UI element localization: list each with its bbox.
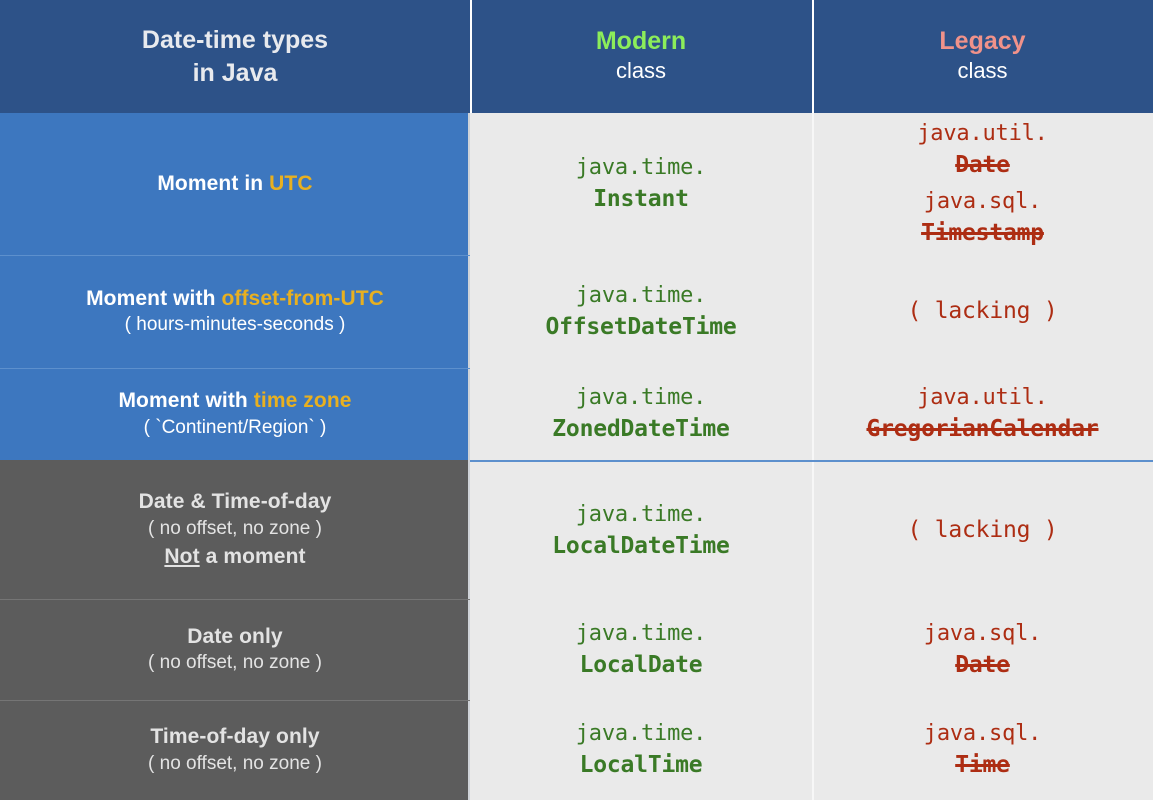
header-modern-sub: class [616,56,666,86]
row-description-sub: ( no offset, no zone ) [148,516,322,543]
header-legacy-sub: class [957,56,1007,86]
code-package: java.time. [576,152,706,183]
code-package: java.time. [576,718,706,749]
header-title-line1: Date-time types [142,24,328,57]
row-modern-moment-offset: java.time. OffsetDateTime [470,255,812,368]
code-package: java.sql. [924,718,1041,749]
table-header-legacy: Legacy class [812,0,1153,113]
code-class: ZonedDateTime [552,413,729,446]
code-entry: java.time. LocalDate [576,618,706,682]
code-class: Timestamp [921,217,1044,250]
row-legacy-date-and-time: ( lacking ) [812,460,1153,599]
code-entry: java.time. LocalDateTime [552,499,729,563]
row-legacy-time-only: java.sql. Time [812,700,1153,800]
row-legacy-moment-offset: ( lacking ) [812,255,1153,368]
code-entry: java.util. GregorianCalendar [866,382,1098,446]
header-title-line2: in Java [193,57,278,90]
code-class: Date [917,149,1047,182]
row-description-main-accent: UTC [269,172,312,195]
code-package: java.util. [917,118,1047,149]
row-description-note-underlined: Not [164,545,199,568]
row-legacy-date-only: java.sql. Date [812,599,1153,700]
row-description-sub: ( `Continent/Region` ) [144,415,327,442]
code-class: Date [924,649,1041,682]
code-package: java.time. [552,382,729,413]
code-entry: java.sql. Date [924,618,1041,682]
row-description-main-plain: Moment with [118,389,253,412]
row-description-note: Not a moment [164,543,305,571]
row-description-main-plain: Moment in [157,172,269,195]
code-entry: java.time. ZonedDateTime [552,382,729,446]
code-entry: java.time. Instant [576,152,706,216]
row-description-note-rest: a moment [200,545,306,568]
table-header-description: Date-time types in Java [0,0,470,113]
code-entry: java.util. Date [917,118,1047,182]
row-description-sub: ( hours-minutes-seconds ) [125,312,346,339]
row-description-date-only: Date only ( no offset, no zone ) [0,599,470,700]
row-modern-date-only: java.time. LocalDate [470,599,812,700]
code-entry: java.time. OffsetDateTime [545,280,736,344]
row-description-moment-zone: Moment with time zone ( `Continent/Regio… [0,368,470,460]
code-package: java.sql. [921,186,1044,217]
row-modern-moment-zone: java.time. ZonedDateTime [470,368,812,460]
code-package: java.time. [576,618,706,649]
row-description-sub: ( no offset, no zone ) [148,751,322,778]
row-description-moment-utc: Moment in UTC [0,113,470,255]
row-description-main: Time-of-day only [150,723,319,751]
row-modern-moment-utc: java.time. Instant [470,113,812,255]
row-modern-date-and-time: java.time. LocalDateTime [470,460,812,599]
row-description-moment-offset: Moment with offset-from-UTC ( hours-minu… [0,255,470,368]
row-description-main: Moment with time zone [118,387,351,415]
code-package: java.util. [866,382,1098,413]
code-entry: java.time. LocalTime [576,718,706,782]
code-package: java.time. [545,280,736,311]
table-header-modern: Modern class [470,0,812,113]
code-entry: java.sql. Time [924,718,1041,782]
row-legacy-moment-utc: java.util. Date java.sql. Timestamp [812,113,1153,255]
row-legacy-moment-zone: java.util. GregorianCalendar [812,368,1153,460]
row-description-main: Date only [187,623,282,651]
header-legacy-accent: Legacy [939,27,1025,56]
row-description-main: Moment in UTC [157,170,312,198]
row-description-main-plain: Moment with [86,287,221,310]
code-package: java.sql. [924,618,1041,649]
code-class: LocalDateTime [552,530,729,563]
row-description-main-accent: offset-from-UTC [221,287,383,310]
code-lacking: ( lacking ) [907,514,1057,547]
row-description-sub: ( no offset, no zone ) [148,650,322,677]
code-class: GregorianCalendar [866,413,1098,446]
code-class: LocalTime [576,749,706,782]
header-modern-accent: Modern [596,27,686,56]
code-class: OffsetDateTime [545,311,736,344]
code-class: Time [924,749,1041,782]
row-modern-time-only: java.time. LocalTime [470,700,812,800]
row-description-main: Moment with offset-from-UTC [86,285,384,313]
row-description-main: Date & Time-of-day [139,488,332,516]
code-entry: java.sql. Timestamp [921,186,1044,250]
row-description-date-and-time: Date & Time-of-day ( no offset, no zone … [0,460,470,599]
row-description-time-only: Time-of-day only ( no offset, no zone ) [0,700,470,800]
row-description-main-accent: time zone [254,389,352,412]
date-time-types-table: Date-time types in Java Modern class Leg… [0,0,1153,810]
code-package: java.time. [552,499,729,530]
code-class: Instant [576,183,706,216]
code-class: LocalDate [576,649,706,682]
code-lacking: ( lacking ) [907,295,1057,328]
